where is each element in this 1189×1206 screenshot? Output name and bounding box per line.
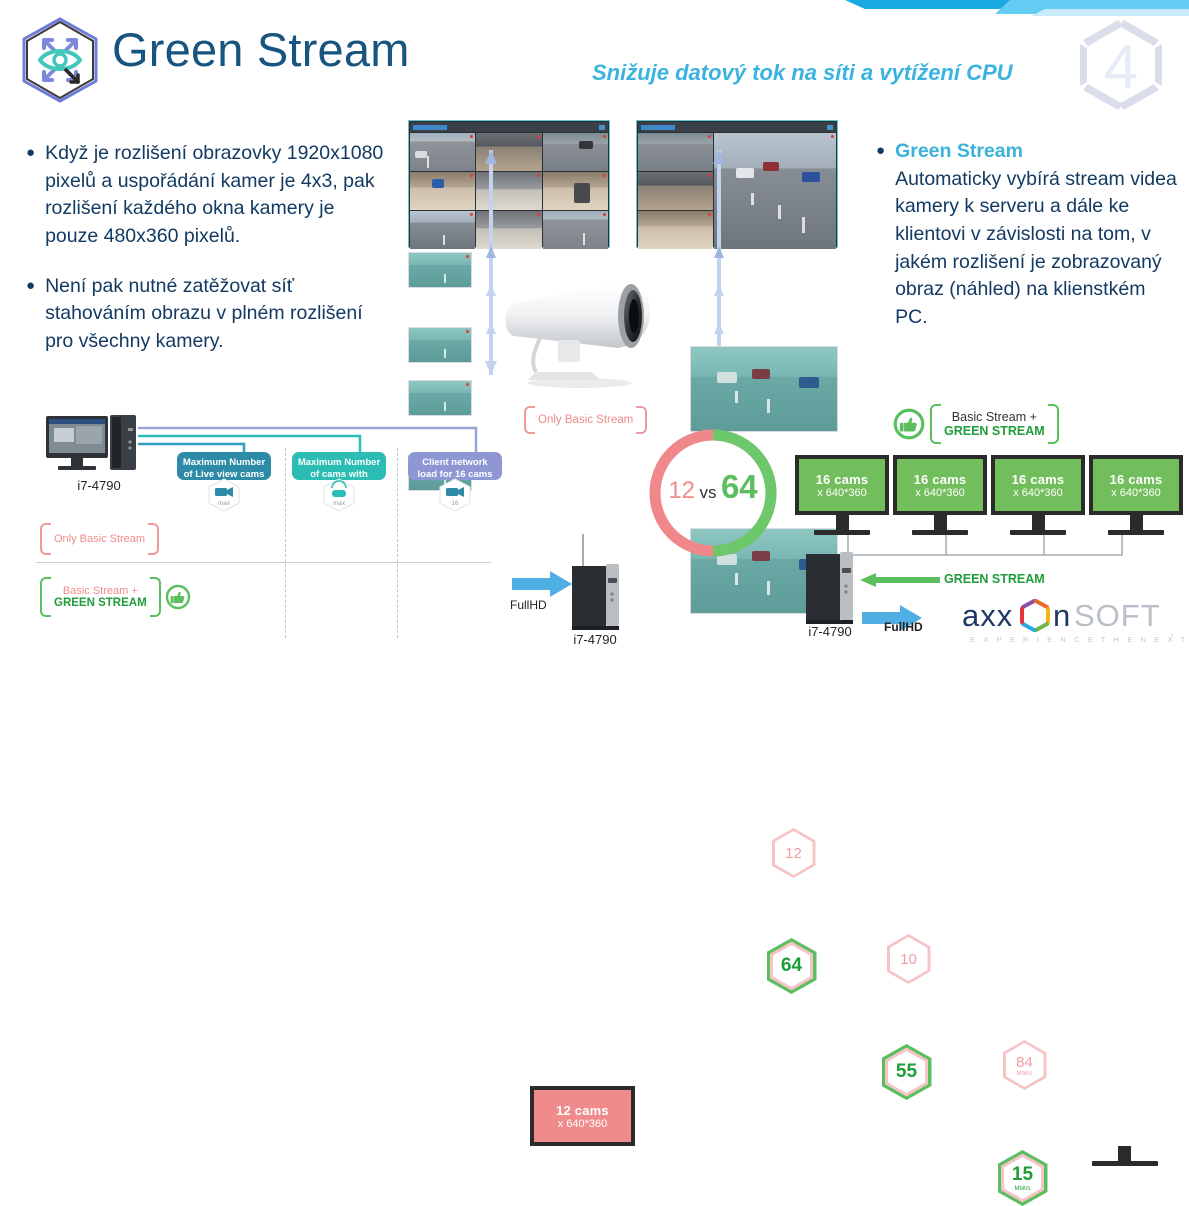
svg-text:4: 4 — [1104, 33, 1138, 102]
bullet-dot-icon: ● — [26, 273, 35, 356]
bracket-line2: GREEN STREAM — [944, 424, 1045, 438]
monitor-neck — [1118, 1146, 1131, 1161]
fullhd-arrow-left — [512, 570, 574, 600]
page-title: Green Stream — [112, 26, 410, 73]
camera-max-icon: max — [208, 478, 240, 512]
camera-cell — [543, 133, 608, 171]
donut-right-value: 64 — [721, 468, 758, 505]
camera-thumbnail — [408, 327, 472, 363]
camera-cell-main — [714, 133, 836, 249]
camera-thumbnail — [408, 380, 472, 416]
vertical-double-arrow-left — [484, 150, 498, 375]
camera-cell — [543, 172, 608, 210]
metric-value: 15 — [1012, 1164, 1033, 1186]
monitor-neck — [1032, 515, 1045, 530]
tower-pc-icon-right — [804, 550, 856, 626]
green-stream-arrow — [860, 572, 940, 588]
green-monitor: 16 cams x 640*360 — [795, 455, 889, 535]
camera-preview-large — [690, 346, 838, 432]
metric-basic-value-3: 84 Mbit/s — [430, 1040, 1189, 1090]
svg-text:16: 16 — [451, 500, 459, 507]
row-label-text: Only Basic Stream — [54, 533, 145, 545]
thumbs-up-icon-right — [893, 408, 925, 440]
right-bullet-item: ● Green Stream Automaticky vybírá stream… — [876, 138, 1181, 332]
monitor-line1: 16 cams — [816, 472, 869, 487]
left-bullet-item-1: ● Když je rozlišení obrazovky 1920x1080 … — [26, 140, 386, 251]
green-stream-arrow-label: GREEN STREAM — [944, 572, 1045, 586]
vms-camera-grid — [410, 133, 608, 249]
monitor-line2: x 640*360 — [558, 1118, 608, 1130]
vms-window-fullscreen — [636, 120, 838, 248]
green-stream-eye-hexagon-icon — [14, 14, 106, 106]
monitor-bus-cables — [838, 535, 1138, 567]
left-bullet-item-2: ● Není pak nutné zatěžovat síť stahování… — [26, 273, 386, 356]
monitor-line2: x 640*360 — [1111, 487, 1161, 499]
column-separator — [397, 448, 398, 638]
box-camera-icon — [500, 278, 660, 388]
monitor-line2: x 640*360 — [817, 487, 867, 499]
green-monitor: 16 cams x 640*360 — [991, 455, 1085, 535]
camera-16-icon: 16 — [439, 478, 471, 512]
camera-detector-max-icon: max — [323, 478, 355, 512]
metric-value: 10 — [900, 951, 917, 968]
row-label-line1: Basic Stream + — [54, 585, 147, 597]
green-stream-body: Automaticky vybírá stream videa kamery k… — [895, 168, 1177, 328]
right-bullet-list: ● Green Stream Automaticky vybírá stream… — [876, 138, 1181, 332]
metric-basic-value-1: 12 — [199, 828, 1189, 878]
metrics-row-separator — [36, 562, 491, 563]
metric-pill-live-view: Maximum Number of Live view cams — [177, 452, 271, 480]
svg-text:SOFT: SOFT — [1074, 598, 1161, 633]
monitor-screen-red: 12 cams x 640*360 — [530, 1086, 635, 1146]
green-stream-heading: Green Stream — [895, 138, 1181, 166]
row-label-green-stream: Basic Stream + GREEN STREAM — [40, 577, 191, 617]
left-bullet-list: ● Když je rozlišení obrazovky 1920x1080 … — [26, 140, 386, 378]
bracket-line1: Basic Stream + — [944, 410, 1045, 424]
bullet-dot-icon: ● — [876, 138, 885, 332]
column-separator — [285, 448, 286, 638]
green-monitor-row: 16 cams x 640*360 16 cams x 640*360 16 c… — [795, 455, 1183, 535]
fullhd-label-left: FullHD — [510, 598, 547, 612]
monitor-neck — [836, 515, 849, 530]
comparison-right-bracket: Basic Stream + GREEN STREAM — [930, 404, 1059, 444]
metric-value: 12 — [785, 845, 802, 862]
vms-single-layout — [638, 133, 836, 249]
metric-unit: Mbit/s — [1016, 1071, 1032, 1077]
left-bullet-text-2: Není pak nutné zatěžovat síť stahováním … — [45, 273, 386, 356]
page-subtitle: Snižuje datový tok na síti a vytížení CP… — [592, 60, 1013, 86]
thumbs-up-icon — [165, 584, 191, 610]
hexagon-four-watermark-icon: 4 — [1061, 10, 1181, 122]
vertical-double-arrow-right — [712, 150, 726, 375]
green-monitor: 16 cams x 640*360 — [893, 455, 987, 535]
tower-pc-label-right: i7-4790 — [795, 624, 865, 639]
camera-cell — [410, 133, 475, 171]
camera-cell — [410, 172, 475, 210]
monitor-neck — [934, 515, 947, 530]
monitor-line1: 16 cams — [1110, 472, 1163, 487]
svg-text:max: max — [218, 500, 231, 507]
metric-pill-detectors: Maximum Number of cams with detectors — [292, 452, 386, 480]
bracket-label-text: Only Basic Stream — [538, 414, 633, 426]
monitor-line1: 16 cams — [1012, 472, 1065, 487]
camera-cell — [410, 211, 475, 249]
monitor-line1: 16 cams — [914, 472, 967, 487]
camera-thumbnail — [408, 252, 472, 288]
vms-titlebar — [638, 122, 836, 132]
svg-text:n: n — [1053, 598, 1070, 633]
donut-vs-label: vs — [699, 483, 716, 502]
svg-text:max: max — [333, 500, 346, 507]
workstation-label: i7-4790 — [44, 478, 154, 493]
tower-pc-icon-left — [570, 562, 622, 632]
donut-left-value: 12 — [668, 477, 695, 504]
left-bullet-text-1: Když je rozlišení obrazovky 1920x1080 pi… — [45, 140, 386, 251]
green-monitor: 16 cams x 640*360 — [1089, 455, 1183, 535]
monitor-neck — [1130, 515, 1143, 530]
row-label-line2: GREEN STREAM — [54, 597, 147, 609]
camera-cell — [638, 172, 713, 210]
tower-pc-label-left: i7-4790 — [560, 632, 630, 647]
monitor-base — [1092, 1161, 1158, 1166]
row-label-basic-stream: Only Basic Stream — [40, 523, 159, 555]
svg-text:E X P E R I E N C E T H E: E X P E R I E N C E T H E N E X T — [970, 635, 1184, 644]
metric-pill-network-load: Client network load for 16 cams — [408, 452, 502, 480]
bullet-dot-icon: ● — [26, 140, 35, 251]
axxonsoft-logo: axx n SOFT E X P E R I E N C E T H E N E… — [958, 596, 1184, 650]
vms-window-multicamera — [408, 120, 610, 248]
camera-cell — [638, 133, 713, 171]
vms-titlebar — [410, 122, 608, 132]
comparison-left-monitor: 12 cams x 640*360 — [530, 1086, 1189, 1166]
monitor-line2: x 640*360 — [915, 487, 965, 499]
comparison-left-bracket: Only Basic Stream — [524, 406, 647, 434]
svg-text:axx: axx — [962, 598, 1013, 633]
fullhd-label-right: FullHD — [884, 620, 923, 634]
camera-cell — [543, 211, 608, 249]
metric-unit: Mbit/s — [1014, 1186, 1030, 1192]
metric-basic-value-2: 10 — [314, 934, 1189, 984]
monitor-line2: x 640*360 — [1013, 487, 1063, 499]
metric-value: 84 — [1016, 1054, 1033, 1071]
camera-cell — [638, 211, 713, 249]
donut-center-label: 12 vs 64 — [645, 468, 781, 506]
monitor-line1: 12 cams — [556, 1103, 609, 1118]
